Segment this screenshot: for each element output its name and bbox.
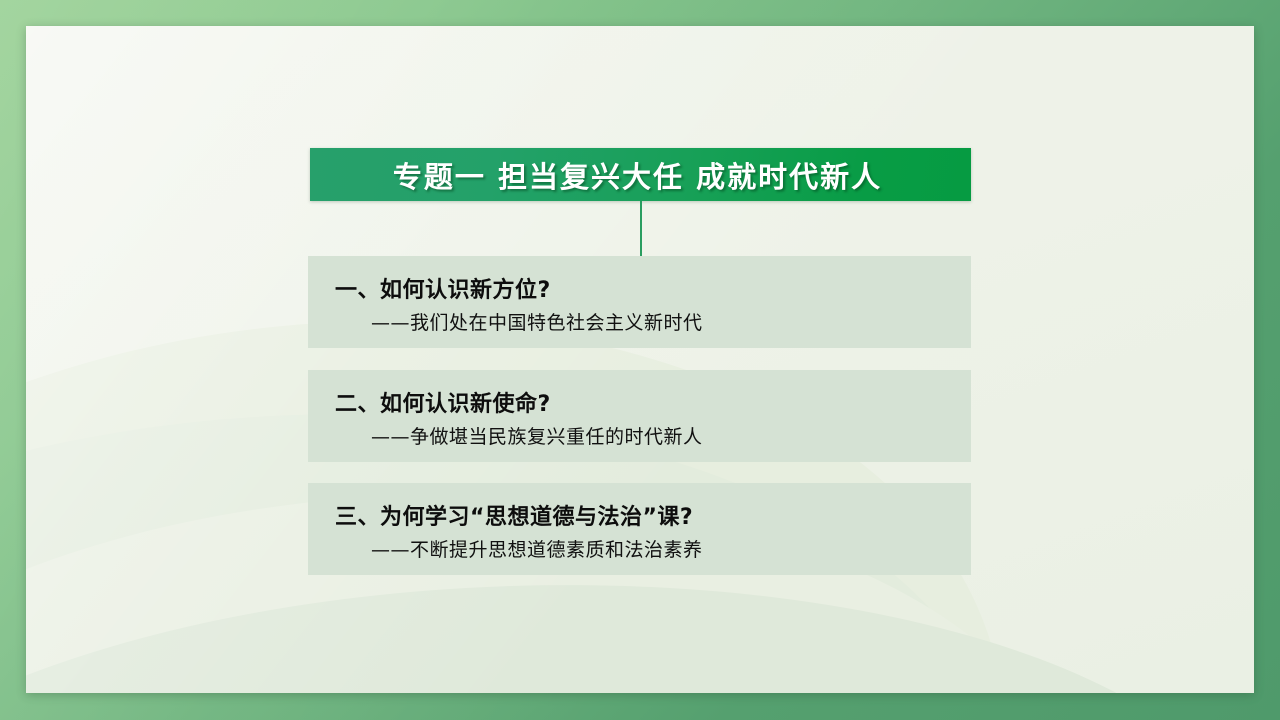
outline-item-1[interactable]: 一、如何认识新方位? ——我们处在中国特色社会主义新时代 — [308, 256, 971, 348]
outline-item-2-heading: 二、如何认识新使命? — [335, 386, 551, 418]
title-to-content-connector-line — [640, 201, 642, 257]
slide-title-text: 专题一 担当复兴大任 成就时代新人 — [393, 154, 888, 196]
outline-item-3[interactable]: 三、为何学习“思想道德与法治”课? ——不断提升思想道德素质和法治素养 — [308, 483, 971, 575]
outline-item-3-subtitle: ——不断提升思想道德素质和法治素养 — [371, 535, 703, 562]
slide-inner-panel: 专题一 担当复兴大任 成就时代新人 一、如何认识新方位? ——我们处在中国特色社… — [26, 26, 1254, 693]
slide-title-banner: 专题一 担当复兴大任 成就时代新人 — [310, 148, 971, 201]
outline-item-1-subtitle: ——我们处在中国特色社会主义新时代 — [371, 308, 703, 335]
outline-item-1-heading: 一、如何认识新方位? — [335, 272, 551, 304]
outline-item-2-subtitle: ——争做堪当民族复兴重任的时代新人 — [371, 422, 703, 449]
outline-item-2[interactable]: 二、如何认识新使命? ——争做堪当民族复兴重任的时代新人 — [308, 370, 971, 462]
outline-item-3-heading: 三、为何学习“思想道德与法治”课? — [335, 499, 693, 531]
presentation-slide: 专题一 担当复兴大任 成就时代新人 一、如何认识新方位? ——我们处在中国特色社… — [0, 0, 1280, 720]
slide-content: 专题一 担当复兴大任 成就时代新人 一、如何认识新方位? ——我们处在中国特色社… — [26, 26, 1254, 693]
